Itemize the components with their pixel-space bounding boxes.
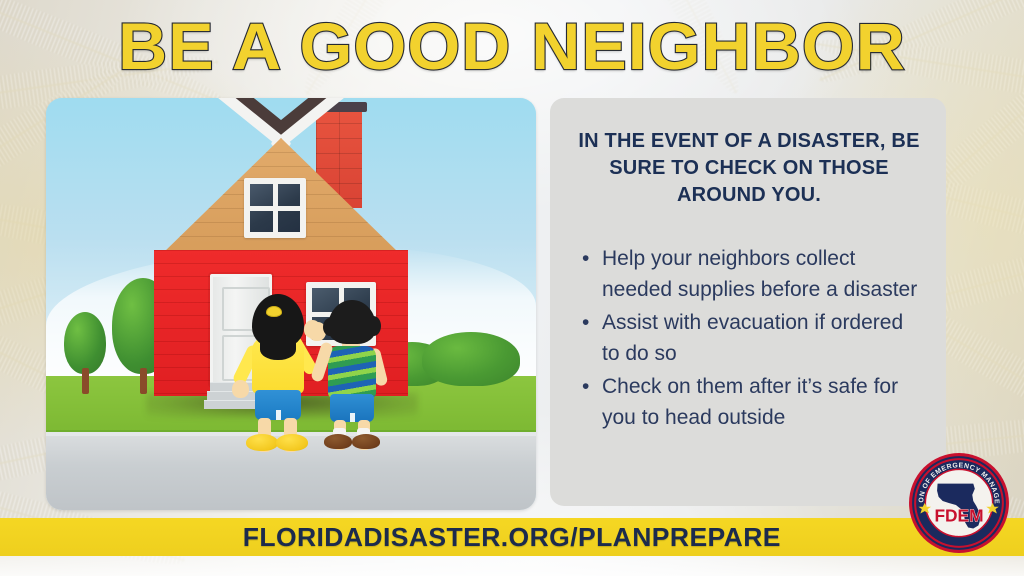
list-item-text: Help your neighbors collect needed suppl… (602, 243, 924, 305)
attic-window (244, 178, 306, 238)
list-item: • Check on them after it’s safe for you … (582, 371, 924, 433)
hair-bow-icon (266, 306, 282, 317)
bush-front (422, 332, 520, 386)
url-banner: FLORIDADISASTER.ORG/PLANPREPARE (0, 518, 1024, 556)
poster-canvas: BE A GOOD NEIGHBOR (0, 0, 1024, 576)
bullet-icon: • (582, 243, 602, 305)
list-item: • Assist with evacuation if ordered to d… (582, 307, 924, 369)
illustration-panel (46, 98, 536, 510)
list-item-text: Assist with evacuation if ordered to do … (602, 307, 924, 369)
child-girl (234, 294, 320, 444)
panel-headline: IN THE EVENT OF A DISASTER, BE SURE TO C… (574, 128, 924, 209)
bullet-icon: • (582, 307, 602, 369)
tree-small-icon (64, 308, 106, 394)
list-item-text: Check on them after it’s safe for you to… (602, 371, 924, 433)
bullet-icon: • (582, 371, 602, 433)
banner-footer-strip (0, 556, 1024, 576)
fdem-seal-icon: DIVISION OF EMERGENCY MANAGEMENT OFFICE … (908, 452, 1010, 554)
page-title: BE A GOOD NEIGHBOR (0, 6, 1024, 86)
list-item: • Help your neighbors collect needed sup… (582, 243, 924, 305)
tips-list: • Help your neighbors collect needed sup… (574, 243, 924, 433)
fascia-left (137, 98, 292, 152)
url-text: FLORIDADISASTER.ORG/PLANPREPARE (243, 522, 781, 553)
seal-acronym: FDEM (934, 505, 983, 525)
child-boy (314, 298, 390, 444)
info-panel: IN THE EVENT OF A DISASTER, BE SURE TO C… (550, 98, 946, 506)
